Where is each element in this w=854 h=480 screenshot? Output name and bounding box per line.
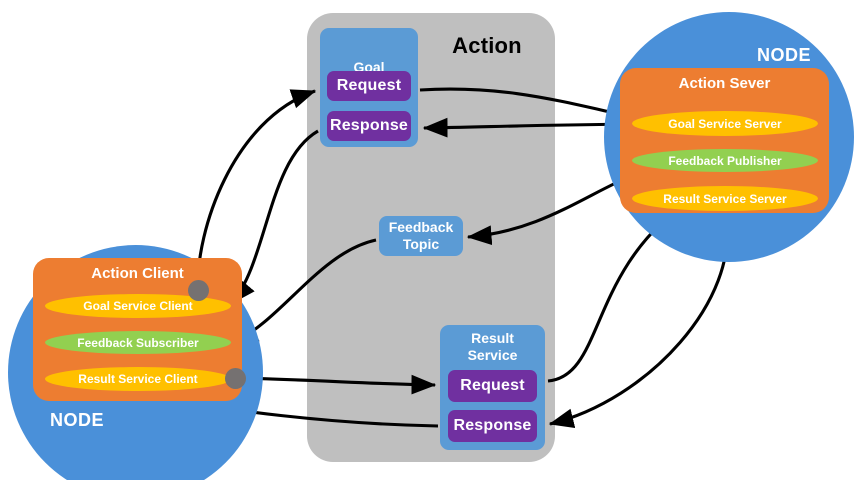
node-left-label: NODE [50,410,104,431]
goal-service-request[interactable]: Request [327,71,411,101]
feedback-topic-box[interactable]: Feedback Topic [379,216,463,256]
result-service-title: Result Service [440,330,545,364]
action-server-heading: Action Sever [620,75,829,92]
diagram-canvas: Action [0,0,854,480]
goal-service-server[interactable]: Goal Service Server [632,111,818,136]
goal-service-box: Goal Service Request Response [320,28,418,147]
feedback-topic-line1: Feedback [389,219,454,236]
result-client-connector-dot [225,368,246,389]
result-service-response[interactable]: Response [448,410,537,442]
feedback-publisher[interactable]: Feedback Publisher [632,149,818,172]
action-title: Action [432,33,542,59]
action-client-heading: Action Client [33,265,242,282]
feedback-topic-line2: Topic [403,236,439,253]
result-service-box: Result Service Request Response [440,325,545,450]
node-right-label: NODE [757,45,811,66]
result-service-server[interactable]: Result Service Server [632,186,818,211]
result-service-client[interactable]: Result Service Client [45,367,231,391]
result-service-title-line2: Service [468,347,518,363]
result-service-title-line1: Result [471,330,514,346]
result-service-request[interactable]: Request [448,370,537,402]
goal-service-response[interactable]: Response [327,111,411,141]
feedback-subscriber[interactable]: Feedback Subscriber [45,331,231,354]
arrow-goalresponse-to-goalclient [232,131,318,303]
action-client-box: Action Client Goal Service Client Feedba… [33,258,242,401]
action-server-box: Action Sever Goal Service Server Feedbac… [620,68,829,213]
goal-client-connector-dot [188,280,209,301]
